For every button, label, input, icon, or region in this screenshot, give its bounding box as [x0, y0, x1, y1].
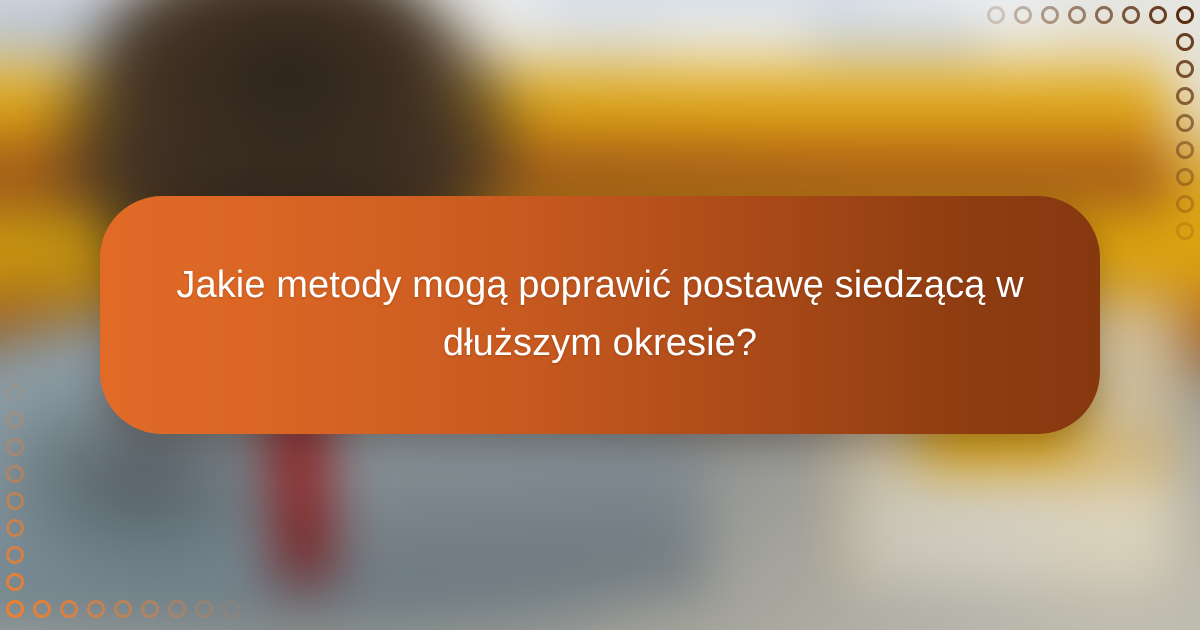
circle-outline-icon [1176, 87, 1194, 105]
circle-outline-icon [6, 492, 24, 510]
circle-outline-icon [1176, 33, 1194, 51]
poster-canvas: Jakie metody mogą poprawić postawę siedz… [0, 0, 1200, 630]
circle-outline-icon [87, 600, 105, 618]
circle-outline-icon [114, 600, 132, 618]
circle-outline-icon [6, 519, 24, 537]
circle-outline-icon [6, 465, 24, 483]
circle-outline-icon [1068, 6, 1086, 24]
circle-outline-icon [6, 600, 24, 618]
circle-outline-icon [1122, 6, 1140, 24]
circle-outline-icon [60, 600, 78, 618]
question-text: Jakie metody mogą poprawić postawę siedz… [172, 257, 1028, 373]
circle-outline-icon [1095, 6, 1113, 24]
circle-outline-icon [222, 600, 240, 618]
circle-outline-icon [1176, 195, 1194, 213]
circle-outline-icon [6, 546, 24, 564]
circle-outline-icon [1014, 6, 1032, 24]
circle-outline-icon [33, 600, 51, 618]
circle-outline-icon [6, 411, 24, 429]
circle-outline-icon [1041, 6, 1059, 24]
circle-outline-icon [1176, 6, 1194, 24]
circle-outline-icon [6, 384, 24, 402]
circle-outline-icon [1176, 141, 1194, 159]
circle-outline-icon [1149, 6, 1167, 24]
circle-outline-icon [6, 573, 24, 591]
circle-outline-icon [6, 438, 24, 456]
circle-outline-icon [1176, 114, 1194, 132]
circle-outline-icon [168, 600, 186, 618]
circle-outline-icon [195, 600, 213, 618]
circle-outline-icon [987, 6, 1005, 24]
circle-outline-icon [1176, 168, 1194, 186]
question-card: Jakie metody mogą poprawić postawę siedz… [100, 196, 1100, 434]
circle-outline-icon [1176, 222, 1194, 240]
circle-outline-icon [141, 600, 159, 618]
circle-outline-icon [1176, 60, 1194, 78]
